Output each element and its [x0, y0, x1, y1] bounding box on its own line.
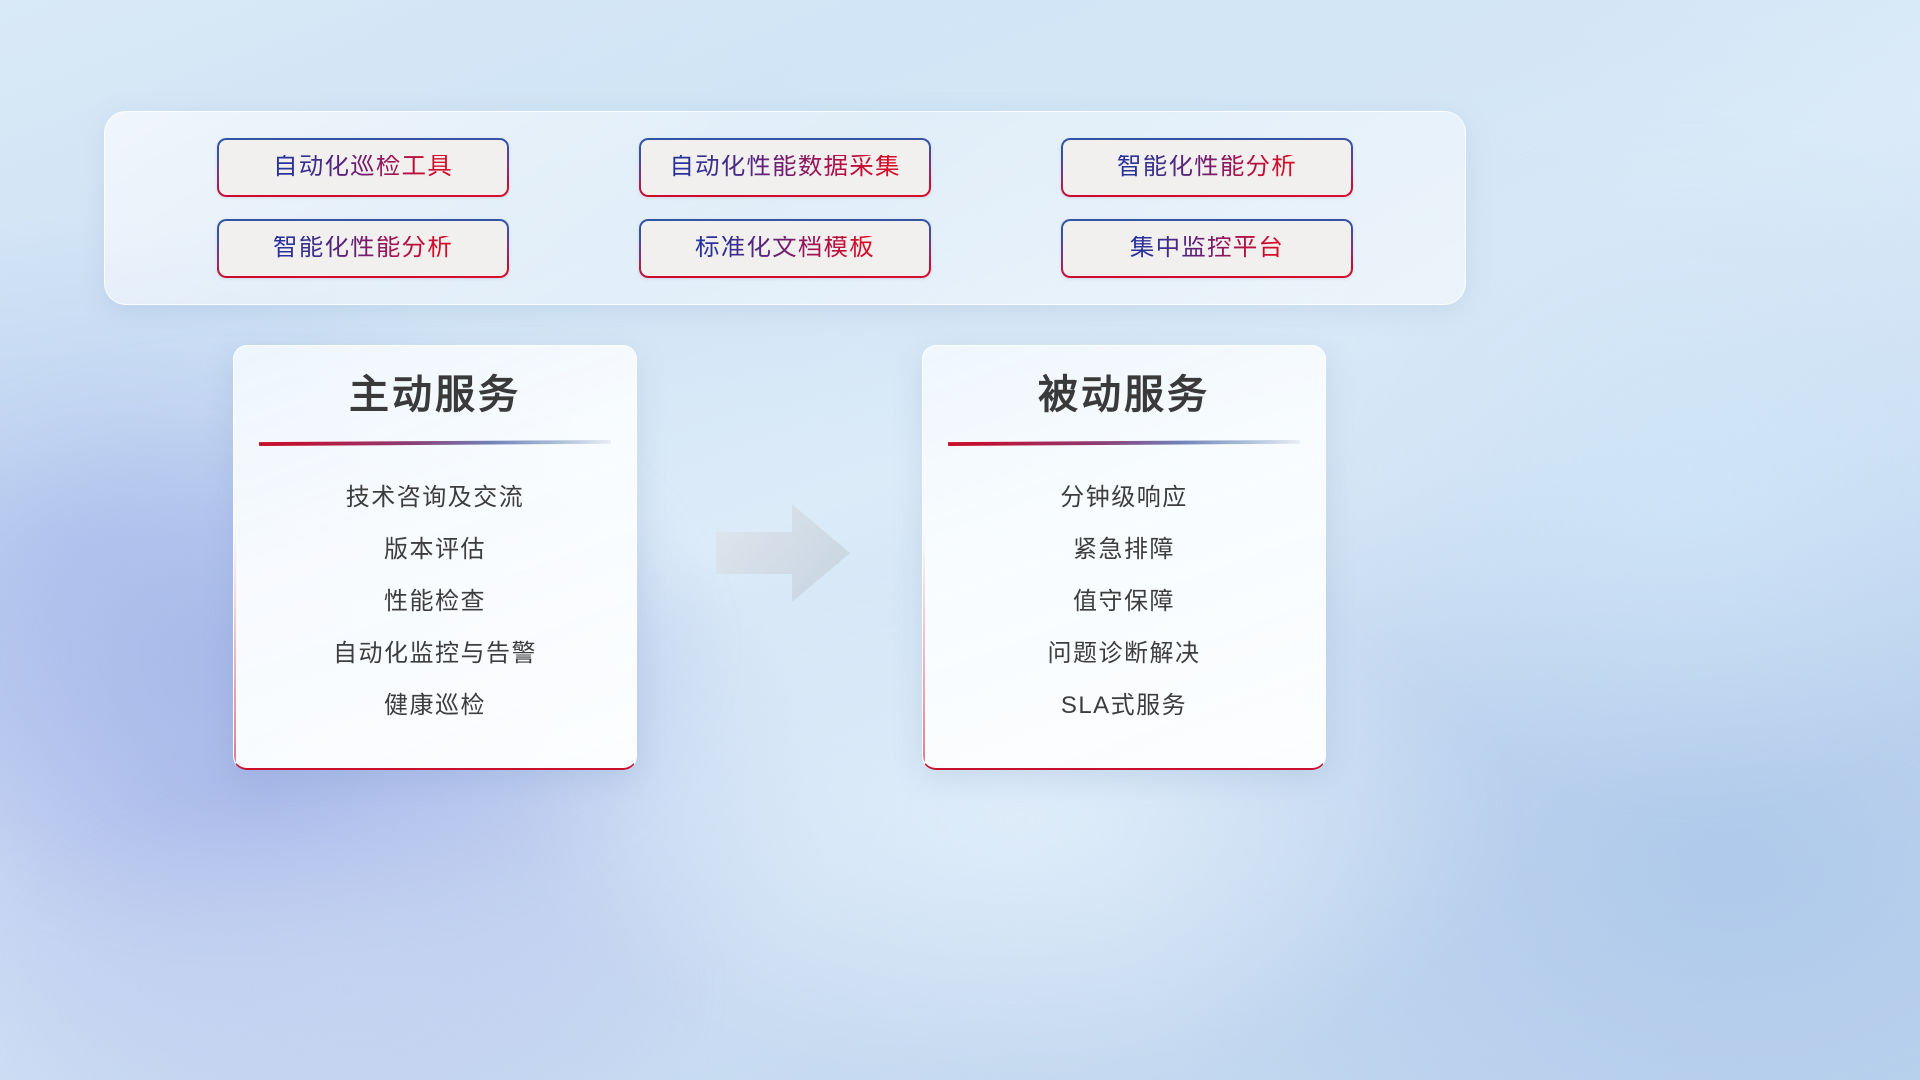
background-glow-bottom [0, 780, 700, 1080]
list-item[interactable]: 技术咨询及交流 [252, 472, 618, 524]
capability-tag-grid: 自动化巡检工具 自动化性能数据采集 智能化性能分析 智能化性能分析 标准化文档模… [105, 112, 1465, 304]
tag-label: 标准化文档模板 [695, 236, 875, 261]
right-arrow-icon [716, 504, 850, 602]
tag-button-auto-perf-data-collection[interactable]: 自动化性能数据采集 [639, 138, 931, 197]
tag-button-intelligent-perf-analysis-2[interactable]: 智能化性能分析 [217, 219, 509, 278]
list-item[interactable]: 自动化监控与告警 [252, 628, 618, 680]
tag-label: 自动化性能数据采集 [669, 155, 900, 180]
tag-button-centralized-monitor[interactable]: 集中监控平台 [1061, 219, 1353, 278]
list-item[interactable]: 问题诊断解决 [941, 628, 1307, 680]
service-list-reactive: 分钟级响应 紧急排障 值守保障 问题诊断解决 SLA式服务 [923, 472, 1325, 732]
tag-label: 智能化性能分析 [273, 236, 453, 261]
card-title-divider [259, 440, 611, 446]
service-card-proactive: 主动服务 技术咨询及交流 版本评估 性能检查 自动化监控与告警 健康巡检 [233, 345, 637, 770]
list-item[interactable]: 版本评估 [252, 524, 618, 576]
list-item[interactable]: 分钟级响应 [941, 472, 1307, 524]
service-card-reactive: 被动服务 分钟级响应 紧急排障 值守保障 问题诊断解决 SLA式服务 [922, 345, 1326, 770]
tag-label: 集中监控平台 [1130, 236, 1284, 261]
list-item[interactable]: 紧急排障 [941, 524, 1307, 576]
list-item[interactable]: 健康巡检 [252, 680, 618, 732]
capability-tag-panel: 自动化巡检工具 自动化性能数据采集 智能化性能分析 智能化性能分析 标准化文档模… [104, 111, 1466, 305]
tag-label: 智能化性能分析 [1117, 155, 1297, 180]
tag-button-auto-inspection-tool[interactable]: 自动化巡检工具 [217, 138, 509, 197]
card-title-reactive: 被动服务 [923, 370, 1325, 420]
tag-label: 自动化巡检工具 [273, 155, 453, 180]
tag-button-standard-doc-template[interactable]: 标准化文档模板 [639, 219, 931, 278]
tag-button-intelligent-perf-analysis[interactable]: 智能化性能分析 [1061, 138, 1353, 197]
service-list-proactive: 技术咨询及交流 版本评估 性能检查 自动化监控与告警 健康巡检 [234, 472, 636, 732]
card-title-divider [948, 440, 1300, 446]
list-item[interactable]: SLA式服务 [941, 680, 1307, 732]
card-title-proactive: 主动服务 [234, 370, 636, 420]
list-item[interactable]: 性能检查 [252, 576, 618, 628]
list-item[interactable]: 值守保障 [941, 576, 1307, 628]
